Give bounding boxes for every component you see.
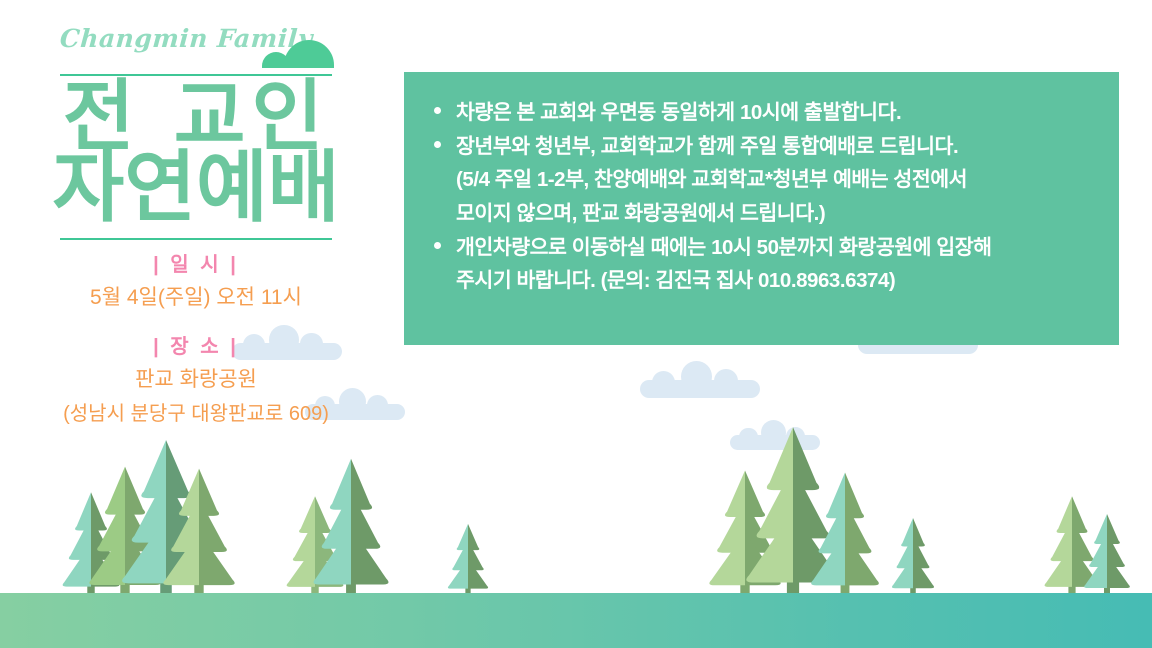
- notice-line: 차량은 본 교회와 우면동 동일하게 10시에 출발합니다.: [456, 96, 1093, 129]
- tree-shape: [446, 523, 490, 593]
- bullet-icon: [434, 107, 441, 114]
- bullet-icon: [434, 141, 441, 148]
- forest-layer: [0, 440, 1152, 600]
- brand-line: Changmin Family: [60, 26, 332, 74]
- tree-shape: [160, 467, 238, 593]
- notice-line: (5/4 주일 1-2부, 찬양예배와 교회학교*청년부 예배는 성전에서: [456, 163, 1093, 196]
- notice-line: 장년부와 청년부, 교회학교가 함께 주일 통합예배로 드립니다.: [456, 130, 1093, 163]
- left-info-column: Changmin Family 전 교인 자연예배 | 일 시 | 5월 4일(…: [0, 26, 392, 432]
- place-address: (성남시 분당구 대왕판교로 609): [0, 399, 392, 430]
- tree-svg: [890, 517, 936, 593]
- date-label: | 일 시 |: [0, 250, 392, 280]
- title-line-2: 자연예배: [41, 151, 351, 226]
- tree-shape: [310, 457, 392, 593]
- tree-svg: [446, 523, 490, 593]
- notice-line: 모이지 않으며, 판교 화랑공원에서 드립니다.): [456, 197, 1093, 230]
- bush-icon: [262, 40, 334, 68]
- tree-shape: [890, 517, 936, 593]
- tree-svg: [160, 467, 238, 593]
- cloud-shape: [640, 380, 760, 399]
- notice-line: 개인차량으로 이동하실 때에는 10시 50분까지 화랑공원에 입장해: [456, 231, 1093, 264]
- date-value: 5월 4일(주일) 오전 11시: [0, 282, 392, 315]
- cloud-puff: [714, 369, 738, 393]
- bush-large-shape: [284, 40, 334, 68]
- tree-shape: [808, 471, 882, 593]
- bullet-icon: [434, 242, 441, 249]
- poster-canvas: Changmin Family 전 교인 자연예배 | 일 시 | 5월 4일(…: [0, 0, 1152, 648]
- tree-svg: [808, 471, 882, 593]
- ground-band: [0, 593, 1152, 648]
- page-title: 전 교인 자연예배: [41, 80, 351, 226]
- tree-shape: [1082, 513, 1132, 593]
- notice-line: 주시기 바랍니다. (문의: 김진국 집사 010.8963.6374): [456, 264, 1093, 297]
- brand-script-text: Changmin Family: [59, 24, 291, 53]
- event-details: | 일 시 | 5월 4일(주일) 오전 11시 | 장 소 | 판교 화랑공원…: [0, 250, 392, 430]
- notice-item: 차량은 본 교회와 우면동 동일하게 10시에 출발합니다.: [430, 96, 1093, 129]
- place-label: | 장 소 |: [0, 332, 392, 362]
- notice-item: 장년부와 청년부, 교회학교가 함께 주일 통합예배로 드립니다.(5/4 주일…: [430, 130, 1093, 230]
- tree-svg: [1082, 513, 1132, 593]
- notice-list: 차량은 본 교회와 우면동 동일하게 10시에 출발합니다.장년부와 청년부, …: [430, 96, 1093, 297]
- notice-item: 개인차량으로 이동하실 때에는 10시 50분까지 화랑공원에 입장해주시기 바…: [430, 231, 1093, 297]
- cloud-puff: [681, 361, 713, 393]
- detail-spacer: [0, 316, 392, 326]
- brand-divider-bottom: [60, 238, 332, 240]
- tree-svg: [310, 457, 392, 593]
- place-value: 판교 화랑공원: [0, 364, 392, 397]
- cloud-puff: [652, 371, 675, 394]
- notice-box: 차량은 본 교회와 우면동 동일하게 10시에 출발합니다.장년부와 청년부, …: [404, 72, 1119, 345]
